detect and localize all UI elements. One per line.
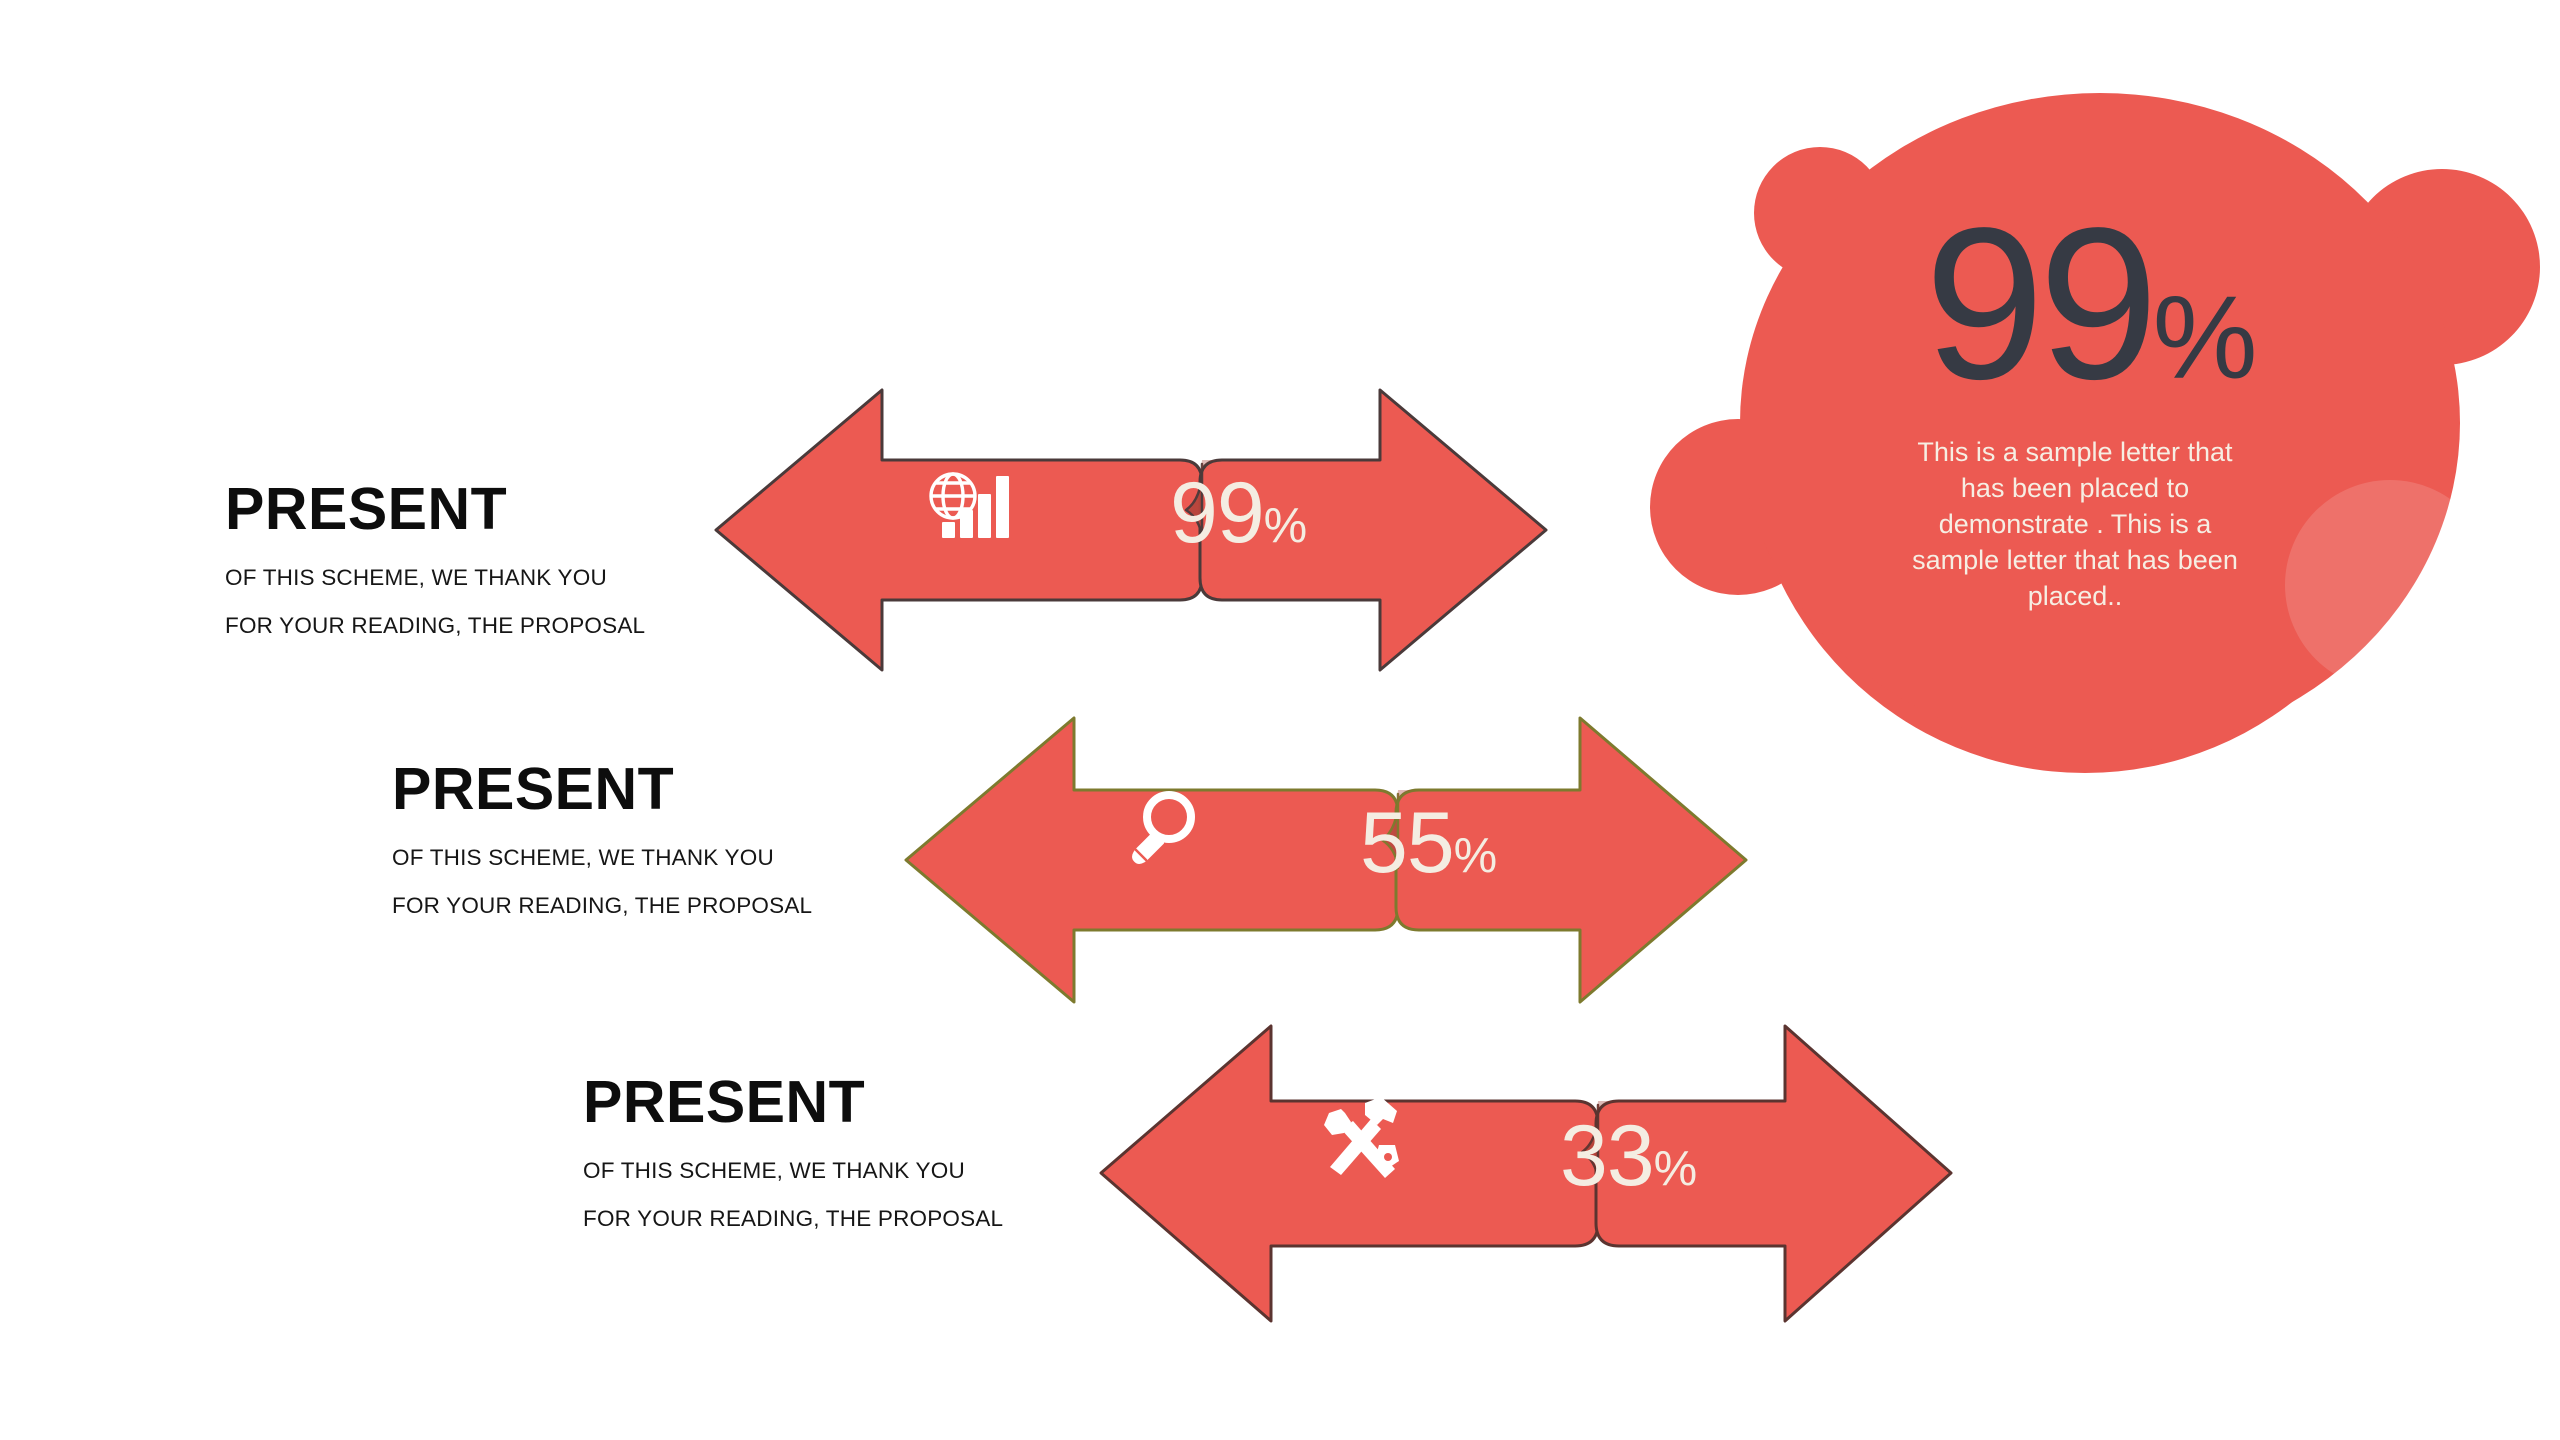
row-line1-3: OF THIS SCHEME, WE THANK YOU: [583, 1160, 1003, 1183]
blob-highlight-circle: [2285, 480, 2495, 690]
row-line2-1: FOR YOUR READING, THE PROPOSAL: [225, 615, 645, 638]
right-arrow-shape-1: [1200, 390, 1546, 670]
arrow-pair-graphic-1: [700, 378, 1560, 683]
row-title-1: PRESENT: [225, 480, 645, 539]
arrow-row-3[interactable]: 33%: [1085, 1013, 1965, 1333]
row-text-2: PRESENT OF THIS SCHEME, WE THANK YOU FOR…: [392, 760, 812, 942]
blob-percent-value: 99: [1924, 182, 2152, 424]
blob-percent-label: 99%: [1630, 195, 2550, 411]
arrow-pair-graphic-3: [1085, 1013, 1965, 1333]
infographic-canvas: 99% PRESENT OF THIS SCHEME, WE THANK YOU…: [0, 0, 2560, 1440]
row-text-3: PRESENT OF THIS SCHEME, WE THANK YOU FOR…: [583, 1073, 1003, 1255]
blob-percent-sign: %: [2153, 272, 2256, 404]
arrow-row-1[interactable]: 99%: [700, 378, 1560, 683]
row-line2-2: FOR YOUR READING, THE PROPOSAL: [392, 895, 812, 918]
row-line1-2: OF THIS SCHEME, WE THANK YOU: [392, 847, 812, 870]
left-arrow-shape-2: [906, 718, 1398, 1002]
row-line1-1: OF THIS SCHEME, WE THANK YOU: [225, 567, 645, 590]
featured-stat-blob[interactable]: 99% This is a sample letter that has bee…: [1630, 45, 2550, 790]
row-title-3: PRESENT: [583, 1073, 1003, 1132]
row-text-1: PRESENT OF THIS SCHEME, WE THANK YOU FOR…: [225, 480, 645, 662]
right-arrow-shape-3: [1596, 1026, 1951, 1321]
blob-description-text: This is a sample letter that has been pl…: [1895, 435, 2255, 615]
row-line2-3: FOR YOUR READING, THE PROPOSAL: [583, 1208, 1003, 1231]
left-arrow-shape-3: [1101, 1026, 1598, 1321]
left-arrow-shape-1: [716, 390, 1202, 670]
row-title-2: PRESENT: [392, 760, 812, 819]
